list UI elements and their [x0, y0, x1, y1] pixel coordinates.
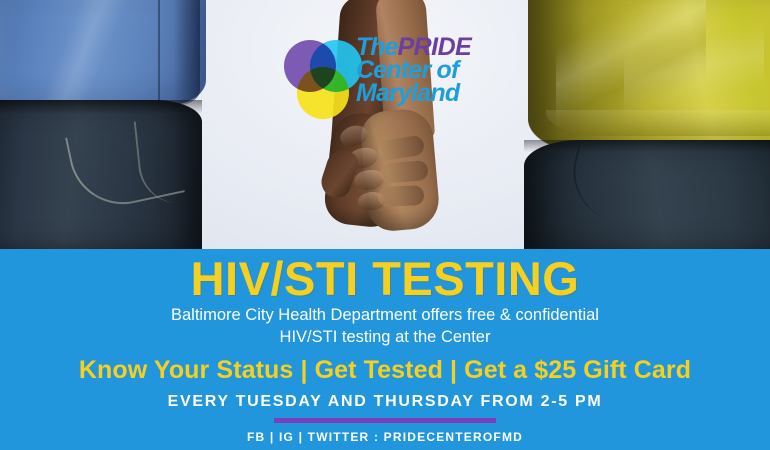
finger: [378, 185, 425, 207]
social-handles-line: FB | IG | TWITTER : PRIDECENTEROFMD: [0, 430, 770, 444]
left-person-figure: [0, 0, 216, 249]
logo-line-3: Maryland: [356, 82, 496, 105]
left-shirt-seam: [158, 0, 160, 104]
subtitle-block: Baltimore City Health Department offers …: [65, 305, 705, 349]
left-shirt-fold: [28, 0, 140, 102]
pride-center-logo: ThePRIDE Center of Maryland: [284, 36, 494, 122]
subtitle-line-2: HIV/STI testing at the Center: [65, 327, 705, 349]
call-to-action-line: Know Your Status | Get Tested | Get a $2…: [0, 357, 770, 385]
right-person-shirt: [528, 0, 770, 152]
poster-root: ThePRIDE Center of Maryland HIV/STI TEST…: [0, 0, 770, 450]
right-person-figure: [522, 0, 770, 249]
info-panel: HIV/STI TESTING Baltimore City Health De…: [0, 249, 770, 450]
purple-divider: [274, 418, 496, 423]
yellow-circle-icon: [297, 67, 349, 119]
subtitle-line-1: Baltimore City Health Department offers …: [65, 305, 705, 327]
logo-circles-mark: [284, 40, 362, 120]
hero-photo: ThePRIDE Center of Maryland: [0, 0, 770, 249]
schedule-line: EVERY TUESDAY AND THURSDAY FROM 2-5 PM: [0, 393, 770, 411]
left-person-shirt: [0, 0, 206, 106]
logo-wordmark: ThePRIDE Center of Maryland: [356, 36, 496, 105]
clasped-hands: [318, 108, 448, 249]
page-title: HIV/STI TESTING: [0, 249, 770, 302]
right-shirt-hem: [546, 110, 770, 136]
logo-word-maryland: Maryland: [356, 79, 459, 107]
